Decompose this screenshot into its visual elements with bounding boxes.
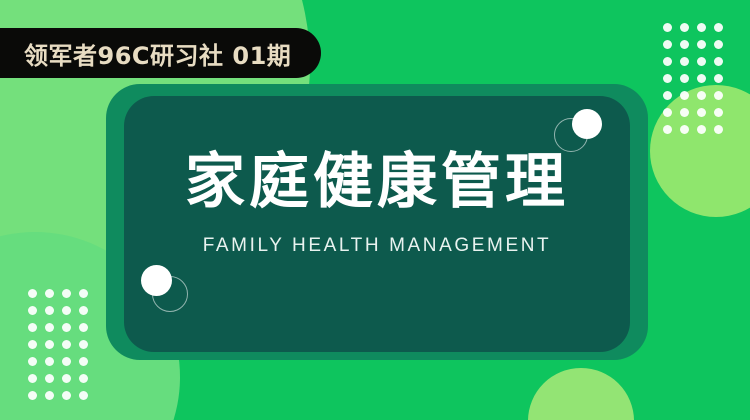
grid-dot [62, 357, 71, 366]
grid-dot [62, 374, 71, 383]
grid-dot [28, 391, 37, 400]
series-tag-label: 领军者96C研习社 01期 [24, 36, 291, 71]
grid-dot [714, 91, 723, 100]
grid-dot [79, 306, 88, 315]
grid-dot [697, 40, 706, 49]
grid-dot [714, 74, 723, 83]
decorative-circle-bottom-right [528, 368, 634, 420]
grid-dot [714, 40, 723, 49]
grid-dot [28, 306, 37, 315]
grid-dot [79, 289, 88, 298]
grid-dot [45, 340, 54, 349]
poster-canvas: 家庭健康管理 FAMILY HEALTH MANAGEMENT 领军者96C研习… [0, 0, 750, 420]
grid-dot [62, 289, 71, 298]
card-text-block: 家庭健康管理 FAMILY HEALTH MANAGEMENT [124, 150, 630, 257]
grid-dot [697, 23, 706, 32]
grid-dot [697, 57, 706, 66]
grid-dot [680, 91, 689, 100]
grid-dot [663, 91, 672, 100]
grid-dot [45, 306, 54, 315]
grid-dot [62, 323, 71, 332]
grid-dot [680, 125, 689, 134]
dot-grid-bottom-left [28, 289, 96, 408]
grid-dot [62, 340, 71, 349]
grid-dot [697, 74, 706, 83]
grid-dot [714, 23, 723, 32]
grid-dot [28, 340, 37, 349]
grid-dot [79, 323, 88, 332]
grid-dot [697, 108, 706, 117]
grid-dot [680, 23, 689, 32]
grid-dot [663, 23, 672, 32]
grid-dot [28, 323, 37, 332]
grid-dot [663, 40, 672, 49]
dot-grid-top-right [663, 23, 731, 142]
grid-dot [45, 357, 54, 366]
grid-dot [45, 391, 54, 400]
grid-dot [28, 357, 37, 366]
grid-dot [680, 57, 689, 66]
grid-dot [45, 289, 54, 298]
title-card: 家庭健康管理 FAMILY HEALTH MANAGEMENT [124, 96, 630, 352]
grid-dot [697, 125, 706, 134]
grid-dot [680, 40, 689, 49]
grid-dot [79, 357, 88, 366]
grid-dot [680, 108, 689, 117]
grid-dot [663, 74, 672, 83]
grid-dot [62, 306, 71, 315]
grid-dot [45, 374, 54, 383]
page-subtitle: FAMILY HEALTH MANAGEMENT [124, 235, 630, 257]
page-title: 家庭健康管理 [124, 150, 630, 215]
grid-dot [663, 57, 672, 66]
grid-dot [714, 125, 723, 134]
grid-dot [28, 289, 37, 298]
decorative-circle-top-right [650, 85, 750, 217]
grid-dot [663, 108, 672, 117]
series-tag: 领军者96C研习社 01期 [0, 28, 321, 78]
grid-dot [62, 391, 71, 400]
grid-dot [714, 57, 723, 66]
grid-dot [79, 340, 88, 349]
grid-dot [680, 74, 689, 83]
grid-dot [79, 374, 88, 383]
grid-dot [714, 108, 723, 117]
circle-filled-icon [572, 109, 602, 139]
grid-dot [663, 125, 672, 134]
grid-dot [28, 374, 37, 383]
grid-dot [697, 91, 706, 100]
circle-filled-icon [141, 265, 172, 296]
grid-dot [45, 323, 54, 332]
grid-dot [79, 391, 88, 400]
